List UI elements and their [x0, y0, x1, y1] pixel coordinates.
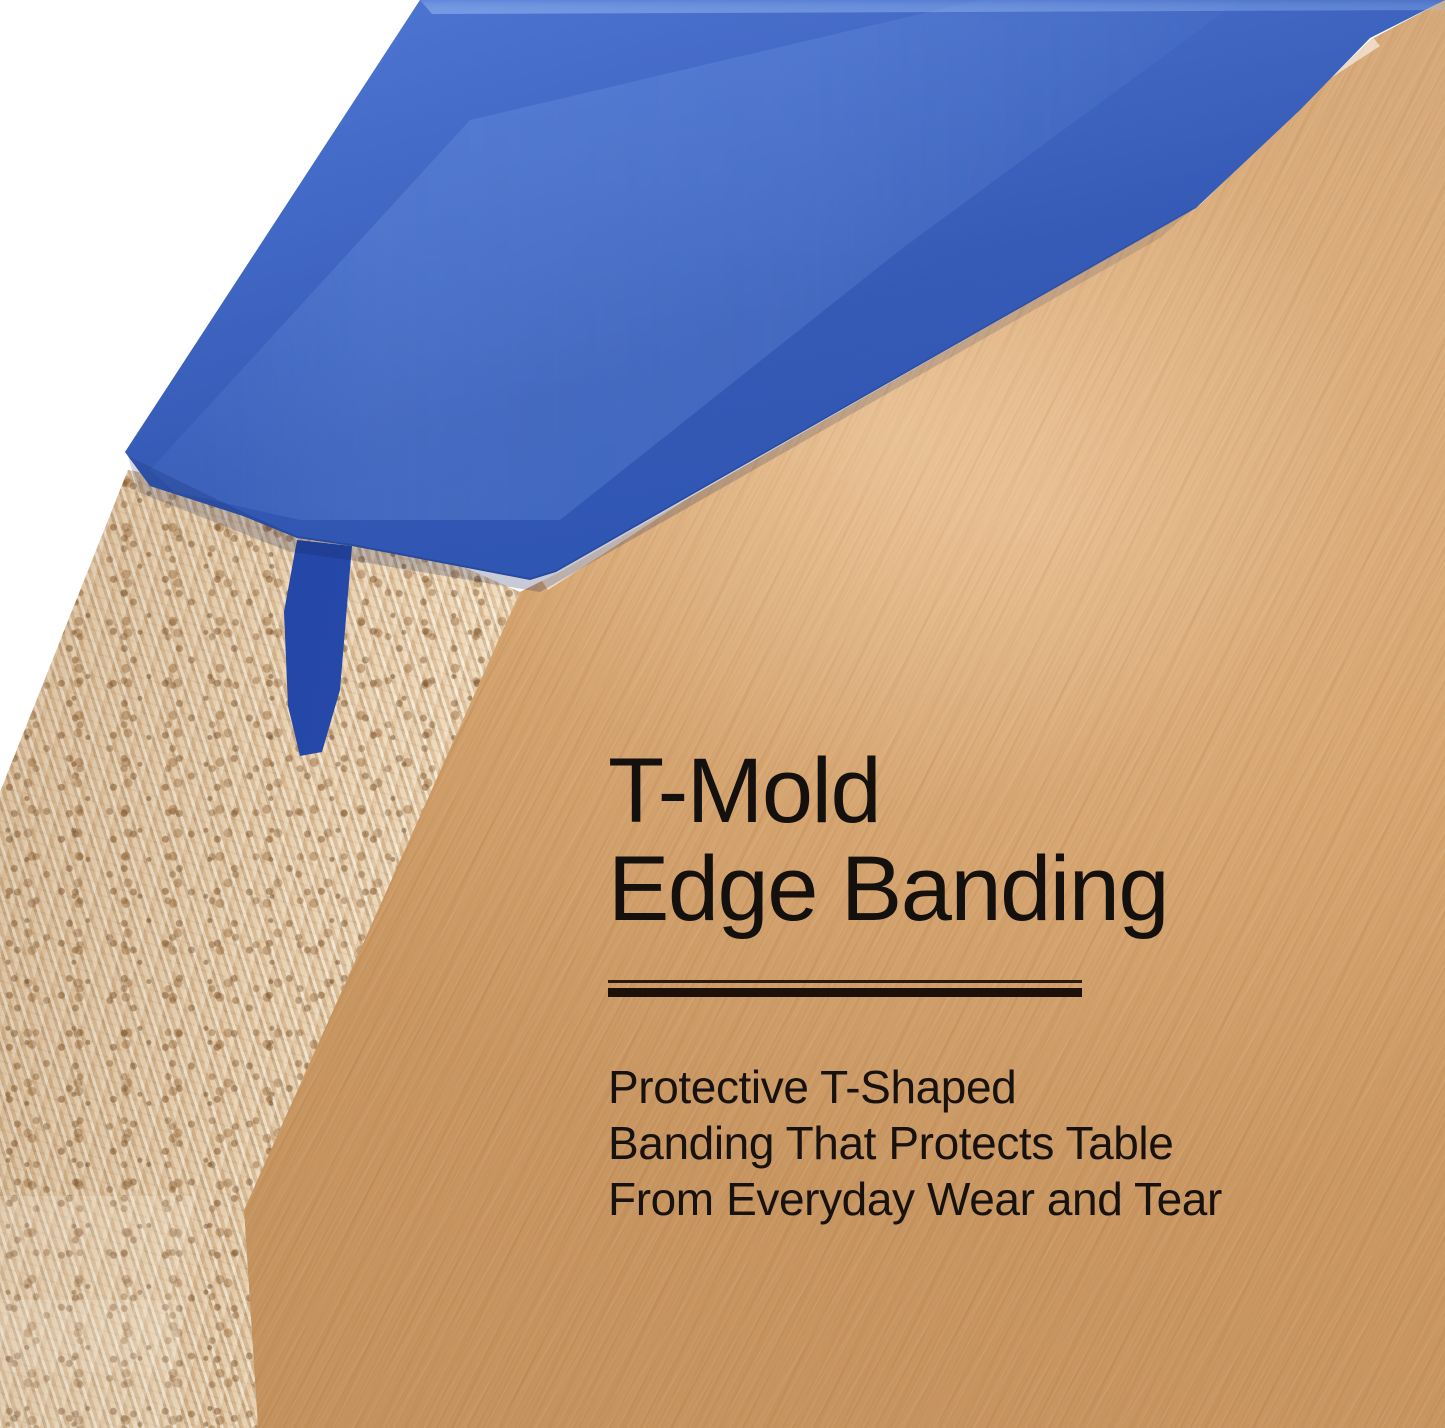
product-feature-image: T-Mold Edge Banding Protective T-Shaped … — [0, 0, 1445, 1428]
divider-thick-rule — [608, 988, 1082, 997]
feature-text-block: T-Mold Edge Banding Protective T-Shaped … — [608, 742, 1328, 1227]
body-copy: Protective T-Shaped Banding That Protect… — [608, 1059, 1328, 1227]
headline: T-Mold Edge Banding — [608, 742, 1328, 938]
core-composite-seam-lower — [0, 1300, 180, 1428]
double-rule-divider — [608, 980, 1082, 997]
